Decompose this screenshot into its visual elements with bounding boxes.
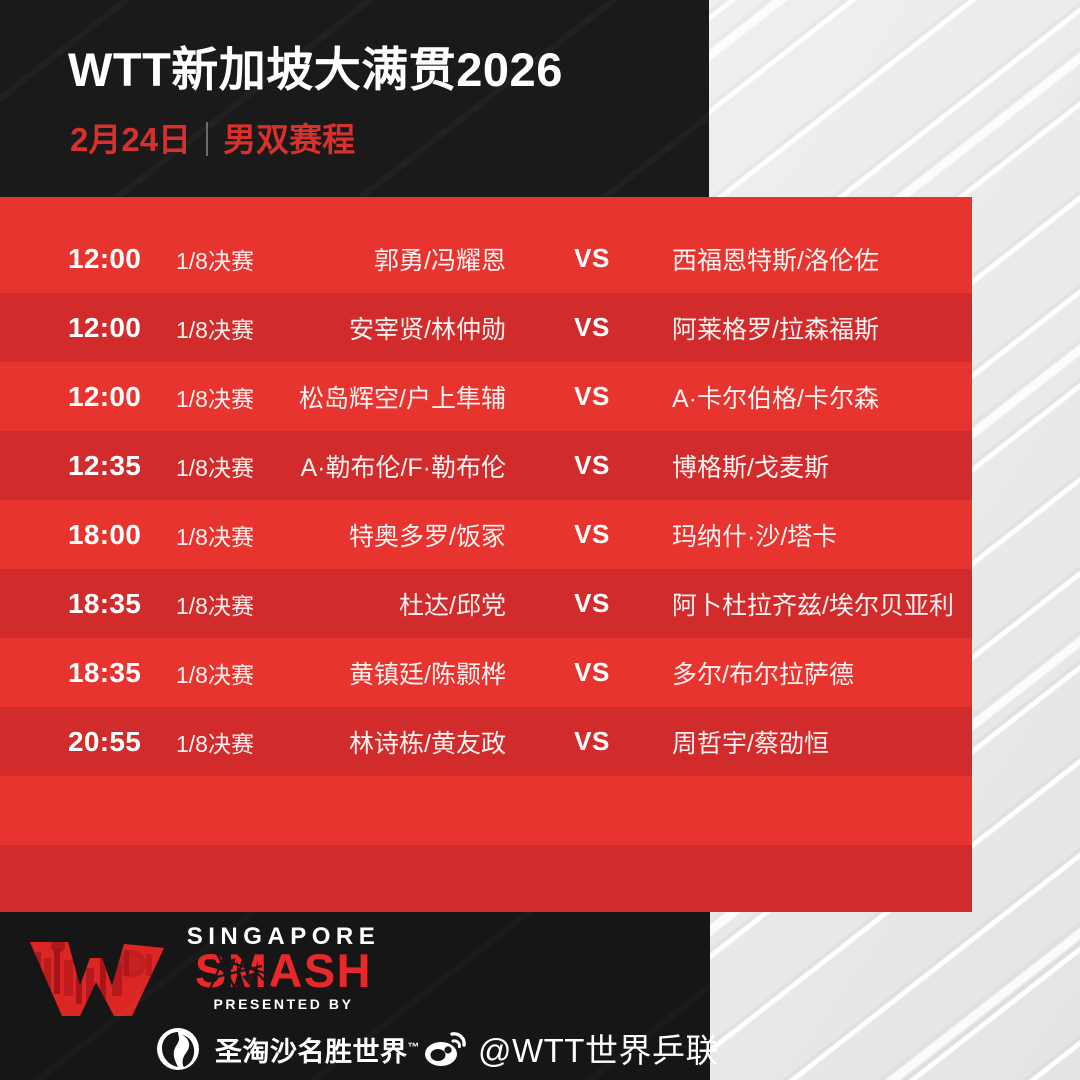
header-block: WTT新加坡大满贯2026 2月24日 男双赛程 (0, 0, 709, 197)
match-player-right: A·卡尔伯格/卡尔森 (672, 379, 972, 415)
versus-label: VS (556, 657, 628, 688)
sponsor-row: 圣淘沙名胜世界™ (155, 1026, 420, 1072)
subtitle-row: 2月24日 男双赛程 (70, 122, 355, 156)
match-player-right: 阿卜杜拉齐兹/埃尔贝亚利 (672, 586, 972, 622)
match-time: 20:55 (68, 726, 172, 758)
sponsor-name: 圣淘沙名胜世界™ (215, 1030, 420, 1069)
table-row[interactable]: 12:001/8决赛松岛辉空/户上隼辅VSA·卡尔伯格/卡尔森 (0, 362, 972, 431)
singapore-smash-logo: SINGAPORE SMASH (24, 922, 394, 1030)
match-player-right: 阿莱格罗/拉森福斯 (672, 310, 972, 346)
schedule-panel: 12:001/8决赛郭勇/冯耀恩VS西福恩特斯/洛伦佐12:001/8决赛安宰贤… (0, 197, 972, 912)
subtitle-date: 2月24日 (70, 123, 191, 156)
versus-label: VS (556, 243, 628, 274)
match-round: 1/8决赛 (176, 587, 280, 621)
table-row[interactable]: 18:001/8决赛特奥多罗/饭冢VS玛纳什·沙/塔卡 (0, 500, 972, 569)
match-round: 1/8决赛 (176, 311, 280, 345)
match-round: 1/8决赛 (176, 518, 280, 552)
subtitle-divider (206, 122, 208, 156)
table-row[interactable]: 12:001/8决赛安宰贤/林仲勋VS阿莱格罗/拉森福斯 (0, 293, 972, 362)
match-player-right: 西福恩特斯/洛伦佐 (672, 241, 972, 277)
match-player-right: 玛纳什·沙/塔卡 (672, 517, 972, 553)
weibo-handle[interactable]: @WTT世界乒联 (478, 1024, 719, 1072)
match-player-right: 多尔/布尔拉萨德 (672, 655, 972, 691)
versus-label: VS (556, 726, 628, 757)
versus-label: VS (556, 519, 628, 550)
schedule-rows: 12:001/8决赛郭勇/冯耀恩VS西福恩特斯/洛伦佐12:001/8决赛安宰贤… (0, 197, 972, 912)
smash-wordmark: SINGAPORE SMASH (176, 924, 391, 1012)
match-round: 1/8决赛 (176, 242, 280, 276)
table-row[interactable]: 18:351/8决赛黄镇廷/陈颢桦VS多尔/布尔拉萨德 (0, 638, 972, 707)
versus-label: VS (556, 450, 628, 481)
sponsor-trademark: ™ (408, 1040, 421, 1054)
versus-label: VS (556, 588, 628, 619)
page-title: WTT新加坡大满贯2026 (68, 46, 563, 93)
versus-label: VS (556, 381, 628, 412)
match-time: 18:35 (68, 657, 172, 689)
match-time: 18:00 (68, 519, 172, 551)
match-player-right: 周哲宇/蔡劭恒 (672, 724, 972, 760)
match-player-right: 博格斯/戈麦斯 (672, 448, 972, 484)
match-player-left: 郭勇/冯耀恩 (276, 241, 506, 277)
versus-label: VS (556, 312, 628, 343)
match-time: 12:00 (68, 312, 172, 344)
match-player-left: 林诗栋/黄友政 (276, 724, 506, 760)
weibo-icon[interactable] (424, 1028, 468, 1068)
smash-word: SMASH (195, 944, 372, 997)
wtt-w-mark-icon (28, 934, 168, 1020)
weibo-row[interactable]: @WTT世界乒联 (424, 1024, 719, 1072)
table-row[interactable]: 18:351/8决赛杜达/邱党VS阿卜杜拉齐兹/埃尔贝亚利 (0, 569, 972, 638)
subtitle-event: 男双赛程 (223, 123, 355, 156)
match-time: 12:00 (68, 381, 172, 413)
match-player-left: 黄镇廷/陈颢桦 (276, 655, 506, 691)
match-round: 1/8决赛 (176, 725, 280, 759)
match-player-left: 松岛辉空/户上隼辅 (276, 379, 506, 415)
sponsor-name-text: 圣淘沙名胜世界 (215, 1037, 408, 1067)
table-row[interactable]: 12:001/8决赛郭勇/冯耀恩VS西福恩特斯/洛伦佐 (0, 224, 972, 293)
match-round: 1/8决赛 (176, 656, 280, 690)
match-time: 12:00 (68, 243, 172, 275)
match-round: 1/8决赛 (176, 449, 280, 483)
match-time: 18:35 (68, 588, 172, 620)
match-player-left: A·勒布伦/F·勒布伦 (276, 448, 506, 484)
match-player-left: 安宰贤/林仲勋 (276, 310, 506, 346)
match-time: 12:35 (68, 450, 172, 482)
smash-word-wrapper: SMASH (176, 948, 391, 994)
match-player-left: 杜达/邱党 (276, 586, 506, 622)
poster-root: WTT新加坡大满贯2026 2月24日 男双赛程 12:001/8决赛郭勇/冯耀… (0, 0, 1080, 1080)
resorts-world-sentosa-icon (155, 1026, 201, 1072)
table-row[interactable]: 12:351/8决赛A·勒布伦/F·勒布伦VS博格斯/戈麦斯 (0, 431, 972, 500)
table-row[interactable]: 20:551/8决赛林诗栋/黄友政VS周哲宇/蔡劭恒 (0, 707, 972, 776)
match-player-left: 特奥多罗/饭冢 (276, 517, 506, 553)
match-round: 1/8决赛 (176, 380, 280, 414)
presented-by-label: PRESENTED BY (176, 996, 391, 1012)
